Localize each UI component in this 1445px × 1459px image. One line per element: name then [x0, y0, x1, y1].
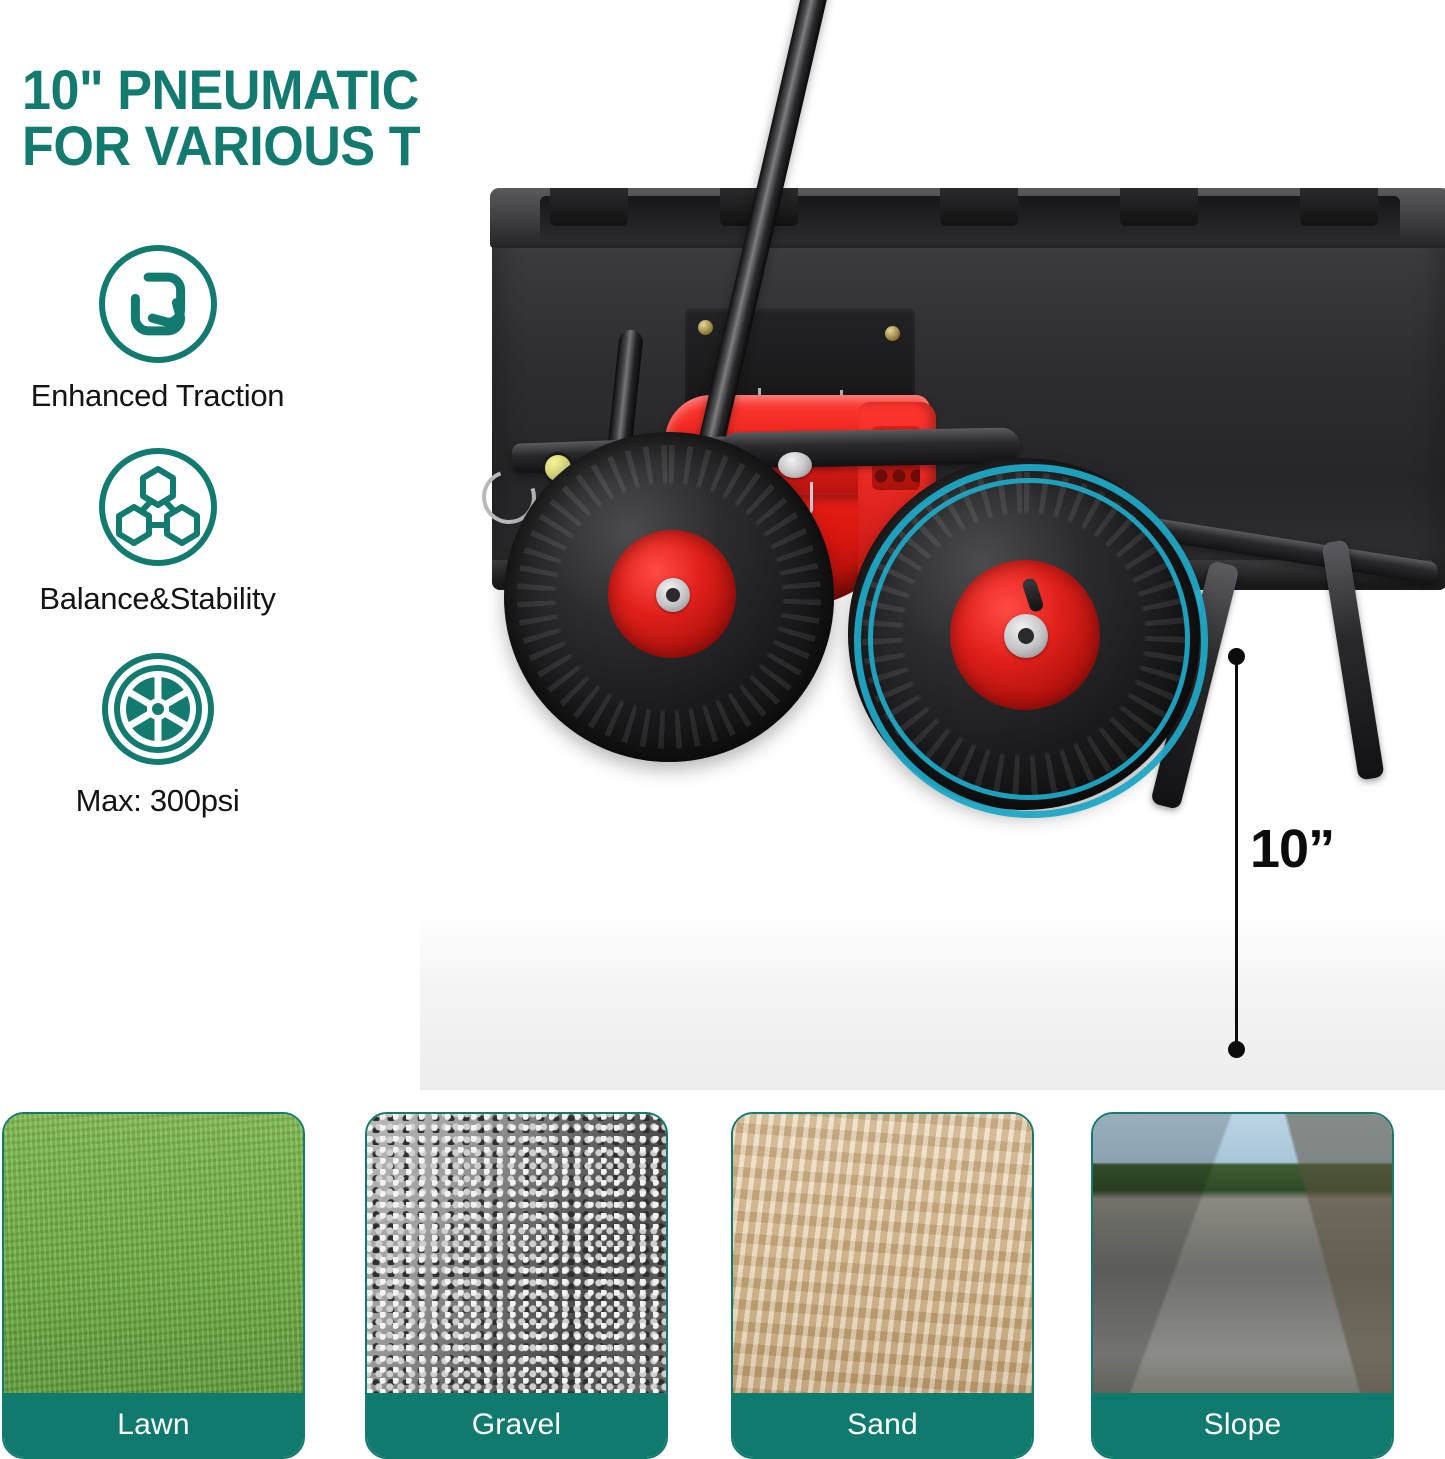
feature-list: Enhanced Traction Balance&Stability — [0, 240, 315, 848]
terrain-caption: Gravel — [367, 1393, 666, 1457]
dimension-value-label: 10” — [1250, 818, 1334, 880]
feature-label: Max: 300psi — [0, 785, 315, 818]
wheel-tire-icon — [94, 645, 222, 773]
terrain-tile-gravel[interactable]: Gravel — [365, 1112, 668, 1459]
terrain-caption: Lawn — [4, 1393, 303, 1457]
dimension-line — [1235, 656, 1238, 1050]
rim-notch — [940, 188, 1018, 226]
chain-link-icon — [94, 240, 222, 368]
terrain-photo-gravel — [367, 1114, 666, 1397]
terrain-tile-sand[interactable]: Sand — [731, 1112, 1034, 1459]
feature-label: Balance&Stability — [0, 583, 315, 616]
feature-label: Enhanced Traction — [0, 380, 315, 413]
terrain-photo-lawn — [4, 1114, 303, 1397]
molecule-hexagons-icon — [94, 443, 222, 571]
rim-notch — [550, 188, 628, 226]
axle-bolt — [778, 452, 812, 478]
terrain-caption: Slope — [1093, 1393, 1392, 1457]
feature-item-enhanced-traction: Enhanced Traction — [0, 240, 315, 413]
tire-diameter-dimension: 10” — [1228, 648, 1348, 1058]
rim-notch — [1120, 188, 1198, 226]
terrain-tile-lawn[interactable]: Lawn — [2, 1112, 305, 1459]
front-wheel-axle-core — [1018, 628, 1034, 644]
feature-item-balance-stability: Balance&Stability — [0, 443, 315, 616]
terrain-photo-slope — [1093, 1114, 1392, 1397]
feature-item-max-pressure: Max: 300psi — [0, 645, 315, 818]
rim-notch — [1300, 188, 1378, 226]
terrain-gallery: Lawn Gravel Sand Slope — [0, 1112, 1445, 1459]
dimension-endpoint-dot-bottom — [1228, 1041, 1245, 1058]
terrain-caption: Sand — [733, 1393, 1032, 1457]
rear-wheel-axle-core — [666, 588, 680, 602]
screw-head — [885, 326, 900, 341]
screw-head — [698, 320, 713, 335]
terrain-photo-sand — [733, 1114, 1032, 1397]
terrain-tile-slope[interactable]: Slope — [1091, 1112, 1394, 1459]
